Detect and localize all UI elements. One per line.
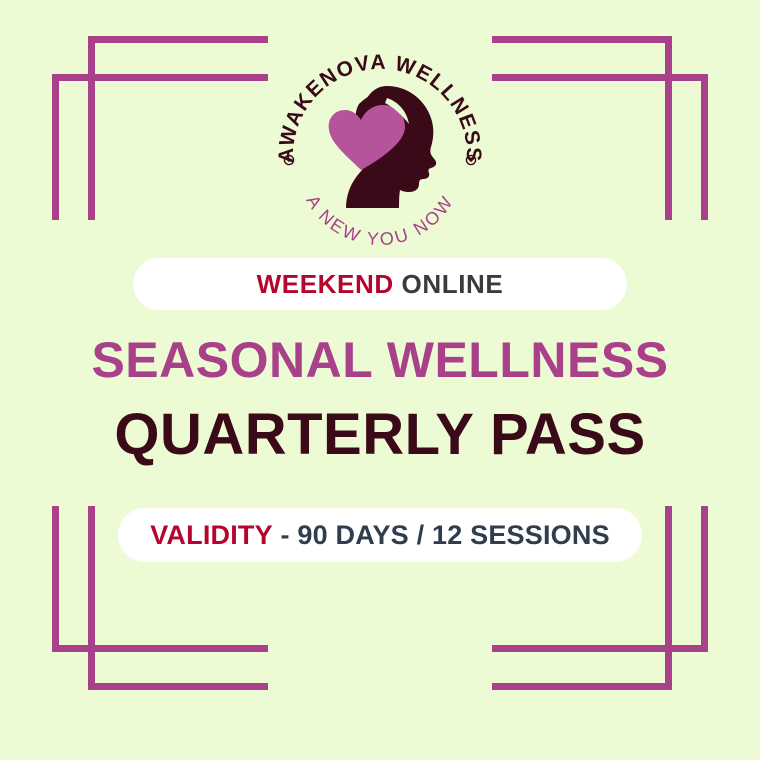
validity-value: - 90 DAYS / 12 SESSIONS [281,520,610,550]
headline-primary: SEASONAL WELLNESS [0,335,760,385]
promo-poster: AWAKENOVA WELLNESS A NEW YOU NOW [0,0,760,760]
eyebrow-highlight: WEEKEND [257,269,394,299]
corner-bracket-top-left-outer [52,74,268,220]
validity-label: VALIDITY [150,520,273,550]
poster-content: WEEKEND ONLINE SEASONAL WELLNESS QUARTER… [0,258,760,562]
eyebrow-pill: WEEKEND ONLINE [133,258,627,310]
eyebrow-rest: ONLINE [402,269,504,299]
brand-logo: AWAKENOVA WELLNESS A NEW YOU NOW [275,44,485,254]
headline-secondary: QUARTERLY PASS [0,406,760,464]
corner-bracket-top-right-outer [492,74,708,220]
validity-pill: VALIDITY - 90 DAYS / 12 SESSIONS [118,508,642,562]
